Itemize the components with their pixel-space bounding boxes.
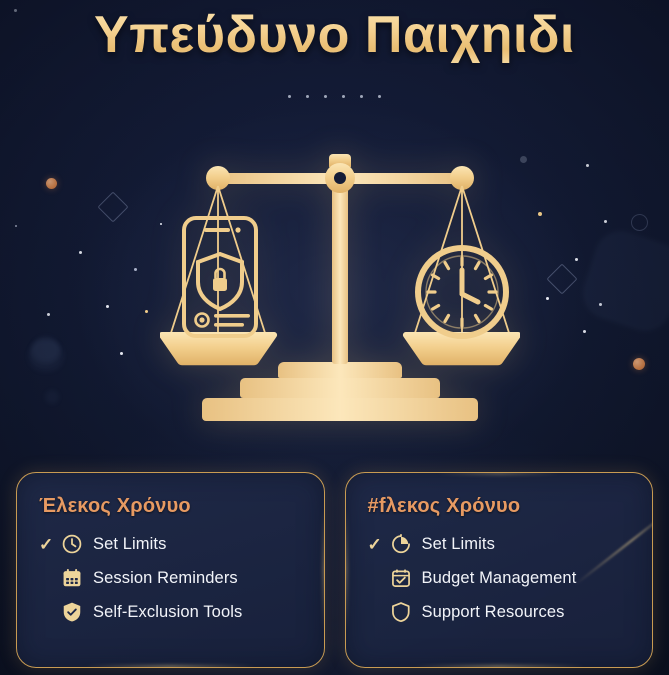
- card-title: Έλεκος Χρόνυο: [39, 495, 306, 518]
- analog-clock-graphic: [418, 248, 506, 336]
- check-icon-placeholder: ·: [39, 604, 59, 621]
- calendar-check-icon: [388, 567, 414, 589]
- card-title: #fλεκος Χρόνυο: [368, 495, 635, 518]
- card-top-glow: [437, 472, 560, 474]
- divider-dot: [324, 95, 327, 98]
- clock-icon: [59, 533, 85, 555]
- card-edge-glow: [345, 508, 346, 632]
- card-edge-glow: [324, 508, 325, 632]
- divider-dot: [342, 95, 345, 98]
- card-bottom-glow: [413, 666, 585, 668]
- feature-item-set-limits[interactable]: ✓ Set Limits: [368, 528, 635, 560]
- phone-shield-graphic: [184, 218, 256, 336]
- check-icon-placeholder: ·: [39, 570, 59, 587]
- card-bottom-glow: [84, 666, 256, 668]
- page-title: Υπεύδυνο Παιχηιδι: [94, 6, 575, 66]
- feature-label: Set Limits: [422, 535, 495, 554]
- check-icon: ✓: [39, 536, 59, 553]
- feature-label: Set Limits: [93, 535, 166, 554]
- feature-label: Self-Exclusion Tools: [93, 603, 242, 622]
- card-time-control[interactable]: Έλεκος Χρόνυο ✓ Set Limits ·: [16, 472, 325, 668]
- feature-list: ✓ Set Limits ·: [39, 528, 306, 628]
- feature-item-session-reminders[interactable]: ·: [39, 562, 306, 594]
- divider-dot: [306, 95, 309, 98]
- divider-dot: [378, 95, 381, 98]
- feature-list: ✓ Set Limits ·: [368, 528, 635, 628]
- divider-dot: [288, 95, 291, 98]
- page-header: Υπεύδυνο Παιχηιδι: [0, 6, 669, 66]
- feature-item-budget-management[interactable]: · Budget Management: [368, 562, 635, 594]
- feature-label: Budget Management: [422, 569, 577, 588]
- check-icon: ✓: [368, 536, 388, 553]
- stopwatch-icon: [388, 533, 414, 555]
- feature-label: Session Reminders: [93, 569, 238, 588]
- feature-item-self-exclusion-tools[interactable]: · Self-Exclusion Tools: [39, 596, 306, 628]
- shield-check-icon: [59, 601, 85, 623]
- shield-outline-icon: [388, 601, 414, 623]
- calendar-icon: [59, 567, 85, 589]
- check-icon-placeholder: ·: [368, 604, 388, 621]
- card-budget-support[interactable]: #fλεκος Χρόνυο ✓ Set Limits ·: [345, 472, 654, 668]
- divider-dot: [360, 95, 363, 98]
- check-icon-placeholder: ·: [368, 570, 388, 587]
- feature-label: Support Resources: [422, 603, 565, 622]
- balance-scale-illustration: [160, 140, 520, 425]
- feature-cards: Έλεκος Χρόνυο ✓ Set Limits ·: [16, 472, 653, 668]
- title-divider-dots: [0, 95, 669, 98]
- feature-item-support-resources[interactable]: · Support Resources: [368, 596, 635, 628]
- feature-item-set-limits[interactable]: ✓ Set Limits: [39, 528, 306, 560]
